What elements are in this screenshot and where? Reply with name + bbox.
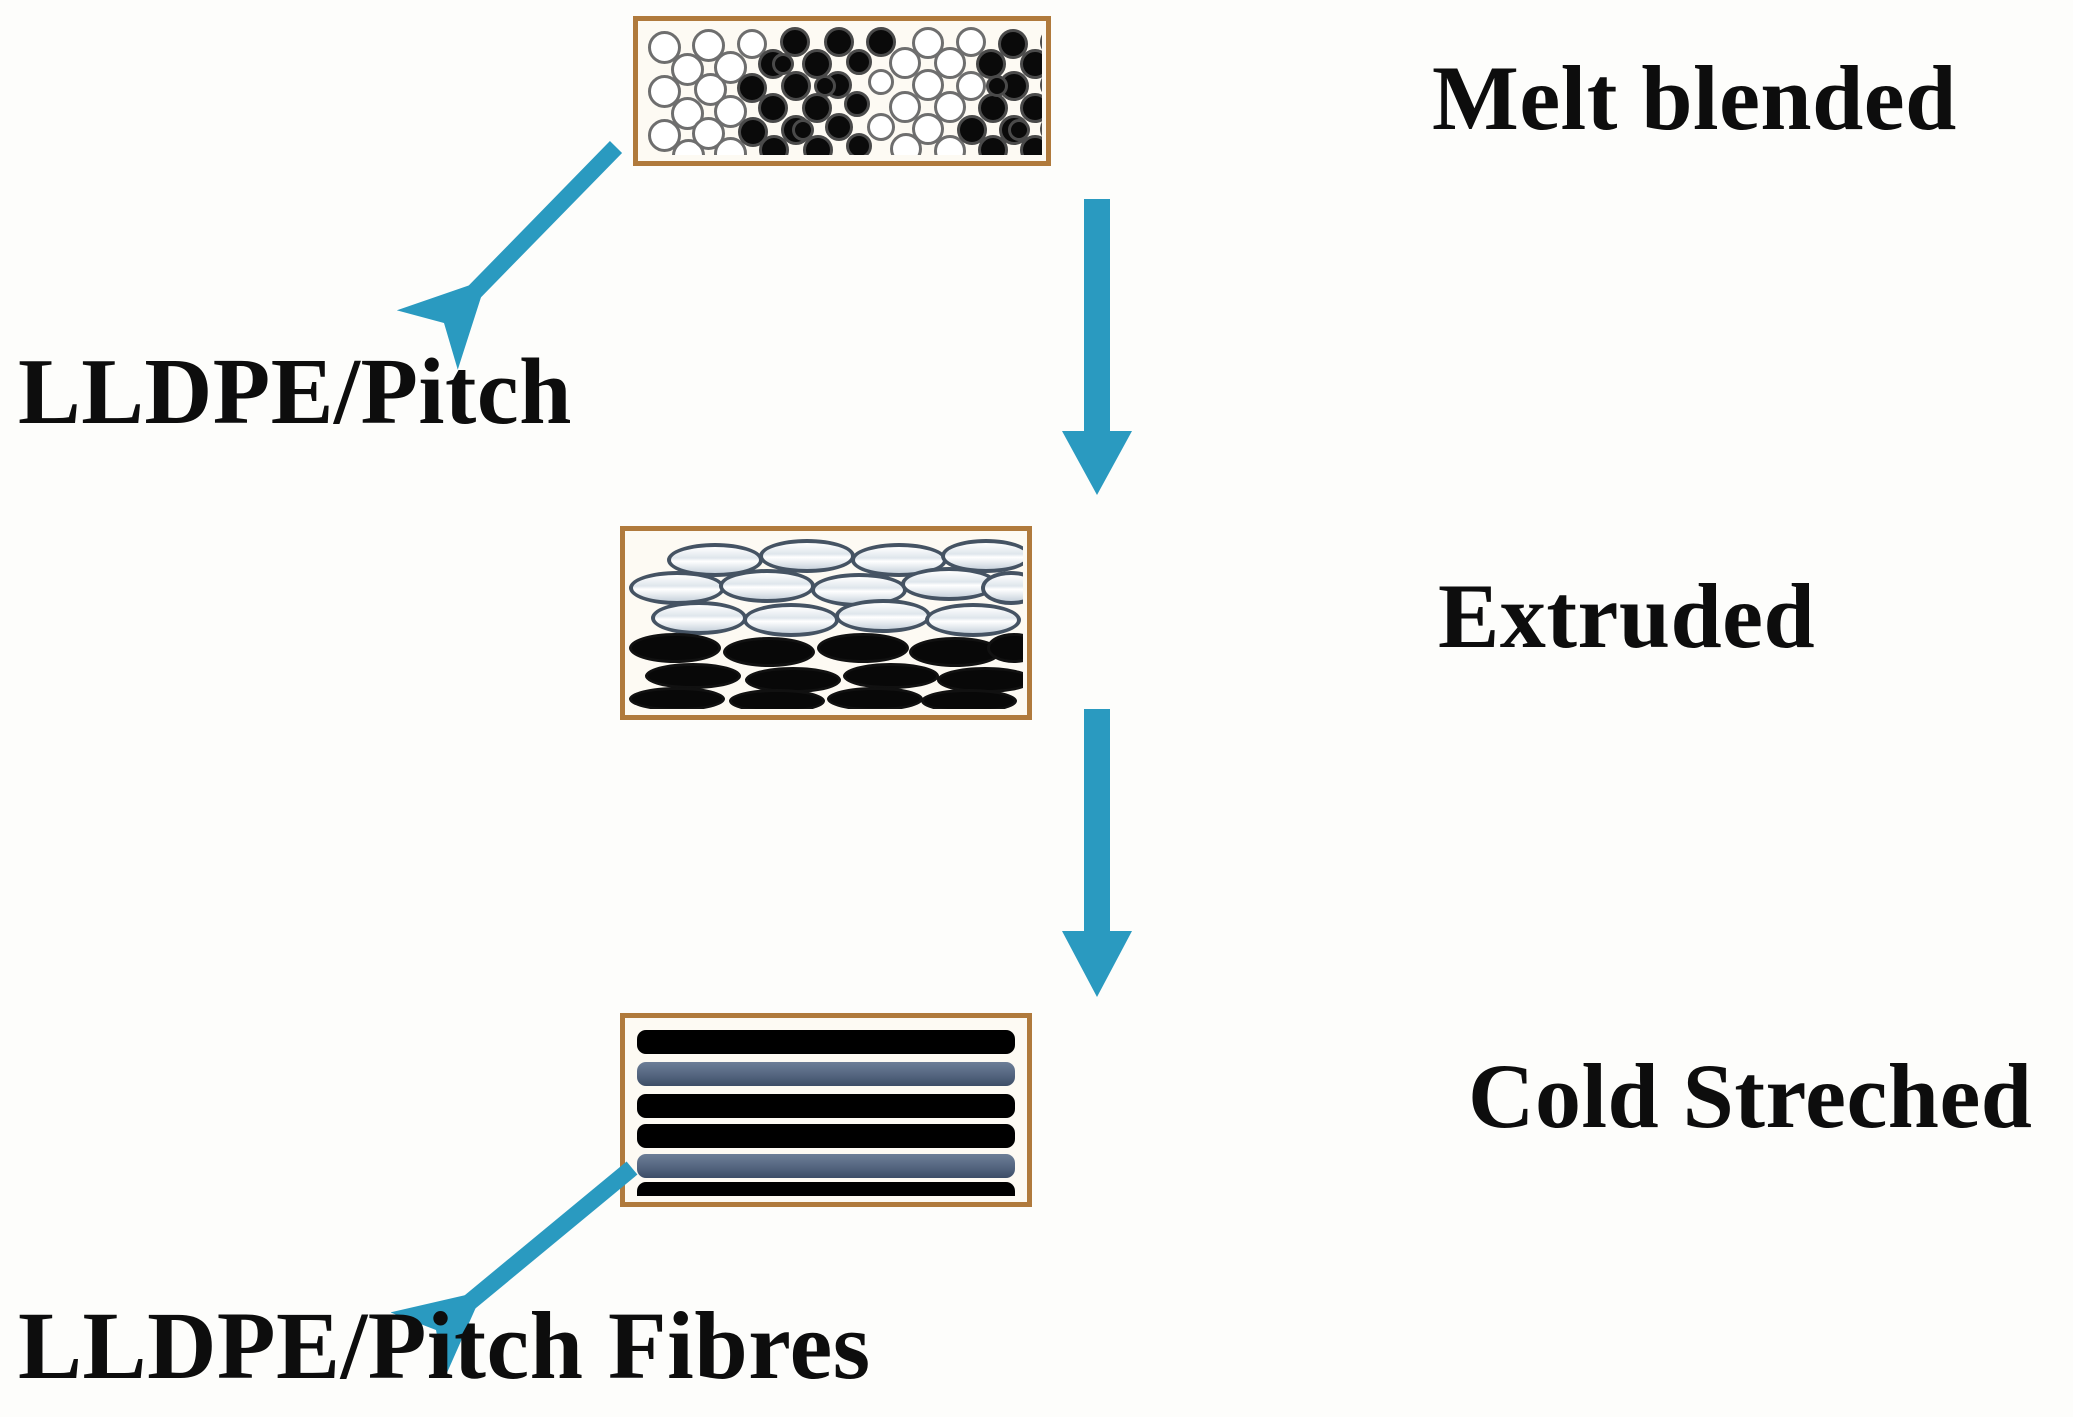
sample-box-extruded [620, 526, 1032, 720]
particle-lldpe [868, 69, 894, 95]
ellipse-light [743, 603, 839, 637]
particle-pitch [772, 53, 794, 75]
ellipse-light [629, 571, 725, 605]
stage-label-extruded: Extruded [1438, 570, 1815, 662]
stripe-black [637, 1094, 1015, 1118]
ellipse-dark [817, 633, 909, 663]
stripe-blue [637, 1154, 1015, 1178]
particle-pitch [846, 133, 872, 155]
ellipse-light [835, 599, 931, 633]
particle-lldpe [867, 113, 895, 141]
stripe-black [637, 1030, 1015, 1054]
ellipse-dark [723, 637, 815, 667]
ellipse-dark [629, 633, 721, 663]
stripe-black [637, 1124, 1015, 1148]
particle-pitch [1020, 93, 1042, 123]
ellipse-dark [843, 663, 939, 689]
ellipse-light [651, 601, 747, 635]
stripe-field-cold-stretched [629, 1024, 1023, 1196]
particle-pitch [846, 49, 872, 75]
ellipse-dark [629, 687, 725, 709]
particle-pitch [986, 75, 1008, 97]
sample-box-cold-stretched [620, 1013, 1032, 1207]
diagram-canvas: Melt blended LLDPE/Pitch Extruded Cold S… [0, 0, 2073, 1417]
output-label-lldpe-pitch: LLDPE/Pitch [18, 345, 572, 439]
stripe-blue [637, 1062, 1015, 1086]
ellipse-light [925, 603, 1021, 637]
ellipse-dark [827, 687, 923, 709]
particle-pitch [814, 75, 836, 97]
arrow-melt-to-lldpe-pitch [420, 125, 650, 355]
output-label-lldpe-pitch-fibres: LLDPE/Pitch Fibres [18, 1298, 871, 1394]
particle-pitch [844, 91, 870, 117]
sample-box-melt-blended [633, 16, 1051, 166]
ellipse-dark [921, 689, 1017, 709]
ellipse-light [981, 571, 1023, 605]
ellipse-dark [729, 689, 825, 709]
arrow-extruded-to-cold-stretched [1040, 705, 1160, 1015]
ellipse-light [719, 569, 815, 603]
particle-field-melt-blended [642, 27, 1042, 155]
particle-pitch [1020, 49, 1042, 79]
particle-pitch [792, 119, 814, 141]
ellipse-dark [645, 663, 741, 689]
ellipse-field-extruded [629, 537, 1023, 709]
particle-pitch [758, 93, 788, 123]
particle-pitch [1008, 119, 1030, 141]
stripe-black [637, 1182, 1015, 1196]
ellipse-light [759, 539, 855, 573]
stage-label-cold-stretched: Cold Streched [1468, 1050, 2032, 1142]
stage-label-melt-blended: Melt blended [1432, 52, 1957, 144]
arrow-melt-to-extruded [1040, 195, 1160, 515]
